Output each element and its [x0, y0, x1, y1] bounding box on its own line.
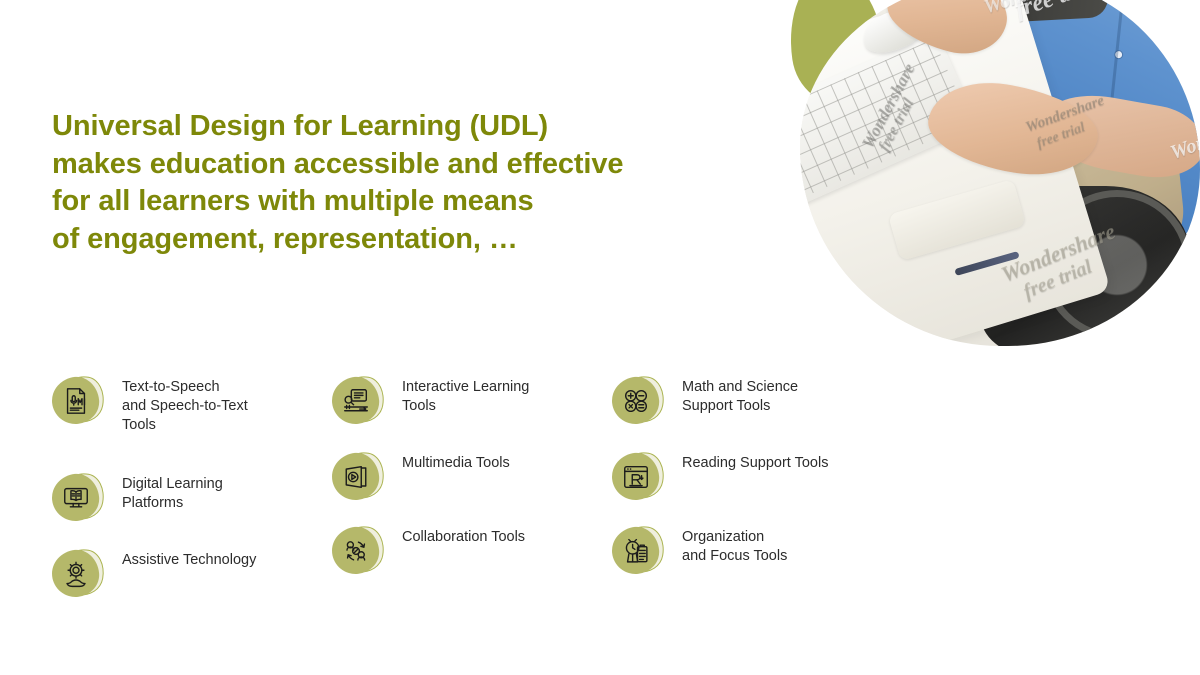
feature-label: Text-to-Speech and Speech-to-Text Tools [122, 374, 248, 435]
feature-icon-badge [612, 374, 664, 426]
gear-hands-icon [52, 550, 99, 597]
feature-item[interactable]: Digital Learning Platforms [52, 471, 342, 523]
feature-icon-badge [332, 374, 384, 426]
feature-grid: Text-to-Speech and Speech-to-Text ToolsD… [0, 352, 900, 612]
feature-label: Assistive Technology [122, 547, 256, 570]
hero-image-region: Wondershare free trial Wondershare free … [780, 0, 1200, 348]
feature-label: Digital Learning Platforms [122, 471, 223, 513]
headline-line-1: Universal Design for Learning (UDL) [52, 108, 812, 146]
feature-icon-badge [612, 450, 664, 502]
feature-item[interactable]: Assistive Technology [52, 547, 342, 599]
feature-label: Organization and Focus Tools [682, 524, 787, 566]
feature-item[interactable]: Interactive Learning Tools [332, 374, 622, 426]
clock-checklist-icon [612, 527, 659, 574]
document-microphone-ai-icon [52, 377, 99, 424]
photo-person-at-desk: Wondershare free trial Wondershare free … [800, 0, 1200, 346]
reading-window-icon [612, 453, 659, 500]
math-operators-icon [612, 377, 659, 424]
feature-item[interactable]: Collaboration Tools [332, 524, 622, 576]
feature-label: Reading Support Tools [682, 450, 828, 473]
feature-item[interactable]: Organization and Focus Tools [612, 524, 902, 576]
feature-item[interactable]: Reading Support Tools [612, 450, 902, 502]
feature-label: Multimedia Tools [402, 450, 510, 473]
feature-label: Math and Science Support Tools [682, 374, 798, 416]
feature-icon-badge [332, 450, 384, 502]
screen-presentation-icon [332, 377, 379, 424]
headline-line-2: makes education accessible and effective [52, 146, 812, 184]
feature-icon-badge [332, 524, 384, 576]
feature-icon-badge [612, 524, 664, 576]
feature-icon-badge [52, 471, 104, 523]
feature-icon-badge [52, 374, 104, 426]
feature-item[interactable]: Multimedia Tools [332, 450, 622, 502]
feature-icon-badge [52, 547, 104, 599]
shirt-button-icon [1115, 51, 1123, 59]
video-play-folder-icon [332, 453, 379, 500]
headline: Universal Design for Learning (UDL) make… [52, 108, 812, 259]
feature-label: Collaboration Tools [402, 524, 525, 547]
feature-item[interactable]: Math and Science Support Tools [612, 374, 902, 426]
headline-line-4: of engagement, representation, … [52, 221, 812, 259]
headline-line-3: for all learners with multiple means [52, 183, 812, 221]
collaboration-people-icon [332, 527, 379, 574]
desktop-book-icon [52, 474, 99, 521]
slide-canvas: Wondershare free trial Wondershare free … [0, 0, 1200, 675]
feature-label: Interactive Learning Tools [402, 374, 529, 416]
feature-item[interactable]: Text-to-Speech and Speech-to-Text Tools [52, 374, 342, 435]
